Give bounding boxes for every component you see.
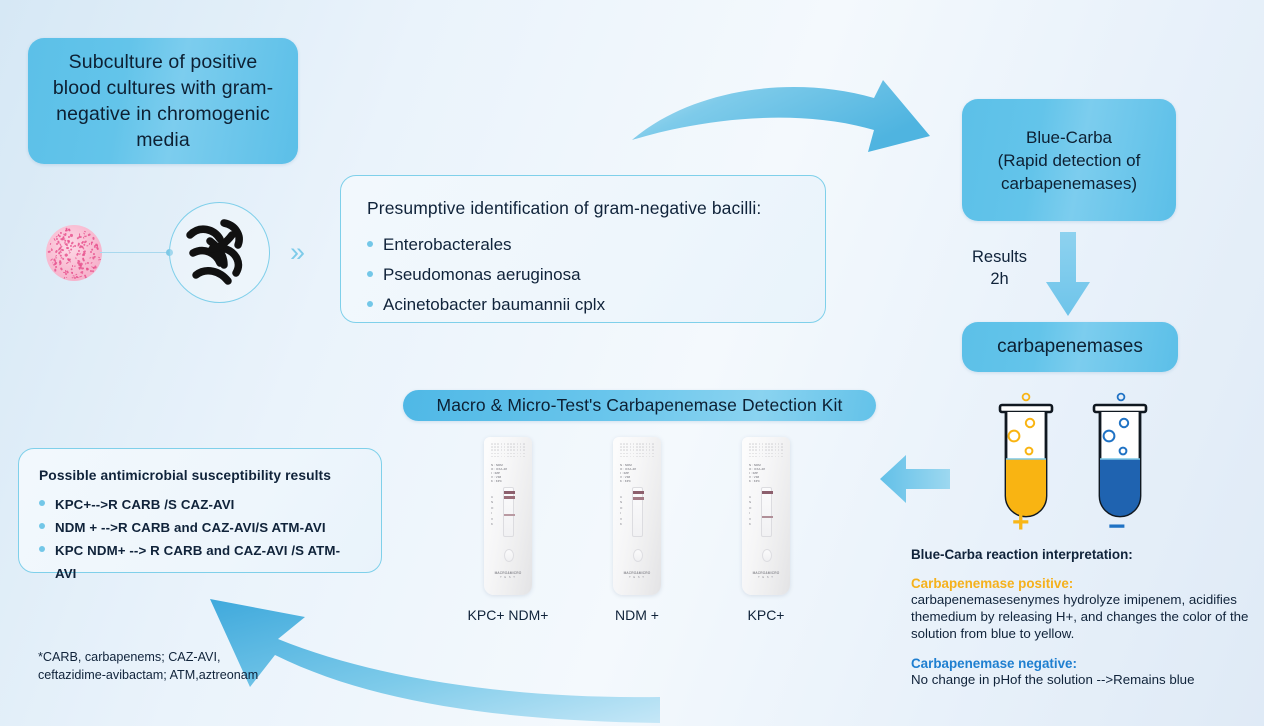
band-control [504,491,515,494]
kit-banner-label: Macro & Micro-Test's Carbapenemase Detec… [437,395,843,416]
interpretation-negative-block: Carbapenemase negative: No change in pHo… [911,656,1256,688]
strip-legend: N : NDM O : OXA-48 I : IMP V : VIM K : K… [491,463,507,483]
strip-perforation-icon [749,443,783,459]
strip-sample-well-icon [762,549,772,562]
bullet-dot-icon [367,271,373,277]
list-item-label: KPC NDM+ --> R CARB and CAZ-AVI /S ATM-A… [55,539,361,585]
negative-heading: Carbapenemase negative: [911,656,1256,671]
footnote-line2: ceftazidime-avibactam; ATM,aztreonam [38,666,338,684]
carbapenemases-label: carbapenemases [997,336,1143,358]
list-item-label: Enterobacterales [383,230,512,260]
list-item-label: NDM + -->R CARB and CAZ-AVI/S ATM-AVI [55,516,326,539]
carbapenemases-output-box: carbapenemases [962,322,1178,372]
strip-result-window [503,487,514,537]
band-kpc [504,514,515,516]
band-control [762,491,773,494]
positive-body: carbapenemasesenymes hydrolyze imipenem,… [911,591,1256,642]
presumptive-title: Presumptive identification of gram-negat… [367,198,799,219]
presumptive-identification-box: Presumptive identification of gram-negat… [340,175,826,323]
results-duration: 2h [972,268,1027,290]
footnote: *CARB, carbapenems; CAZ-AVI, ceftazidime… [38,648,338,684]
legend-kpc: K : KPC [491,479,507,483]
susceptibility-title: Possible antimicrobial susceptibility re… [39,468,361,483]
strip-sample-well-icon [633,549,643,562]
results-word: Results [972,246,1027,268]
footnote-line1: *CARB, carbapenems; CAZ-AVI, [38,648,338,666]
bullet-dot-icon [367,241,373,247]
band-ndm [504,496,515,499]
list-item-label: Acinetobacter baumannii cplx [383,290,605,320]
strip-perforation-icon [491,443,525,459]
strip-brand: MACRO&MICRO T E S T [752,571,780,579]
band-kpc [762,516,773,518]
strip-body: N : NDM O : OXA-48 I : IMP V : VIM K : K… [484,437,532,595]
list-item-label: KPC+-->R CARB /S CAZ-AVI [55,493,234,516]
susceptibility-list: KPC+-->R CARB /S CAZ-AVI NDM + -->R CARB… [39,493,361,585]
strip-brand: MACRO&MICRO T E S T [623,571,651,579]
interpretation-title: Blue-Carba reaction interpretation: [911,547,1256,562]
positive-sign-label: + [1012,508,1030,538]
arrow-left-tubes-to-kit-icon [880,455,950,503]
chevron-right-icon: ›› [290,237,302,268]
list-item: KPC NDM+ --> R CARB and CAZ-AVI /S ATM-A… [39,539,361,585]
test-tubes-illustration [968,388,1158,533]
susceptibility-results-box: Possible antimicrobial susceptibility re… [18,448,382,573]
carbapenemase-negative-tube [1094,394,1146,516]
list-item: Pseudomonas aeruginosa [367,260,799,290]
bullet-dot-icon [367,301,373,307]
results-time-label: Results 2h [972,246,1027,290]
subculture-text: Subculture of positive blood cultures wi… [42,49,284,153]
kit-banner: Macro & Micro-Test's Carbapenemase Detec… [403,390,876,421]
strip-result-window [761,487,772,537]
strip-side-labels: C N O I V K [749,495,751,527]
gram-stain-circle-icon [46,225,102,281]
strip-legend: N : NDM O : OXA-48 I : IMP V : VIM K : K… [749,463,765,483]
strip-side-labels: C N O I V K [491,495,493,527]
strip-side-labels: C N O I V K [620,495,622,527]
negative-body: No change in pHof the solution -->Remain… [911,671,1256,688]
positive-heading: Carbapenemase positive: [911,576,1256,591]
list-item: NDM + -->R CARB and CAZ-AVI/S ATM-AVI [39,516,361,539]
carbapenemase-positive-tube [1000,394,1052,516]
band-control [633,491,644,494]
arrow-subculture-to-bluecarba-icon [630,78,982,188]
strip-body: N : NDM O : OXA-48 I : IMP V : VIM K : K… [613,437,661,595]
interpretation-block: Blue-Carba reaction interpretation: Carb… [911,547,1256,688]
test-strip-kpc: N : NDM O : OXA-48 I : IMP V : VIM K : K… [742,437,790,623]
strip-brand: MACRO&MICRO T E S T [494,571,522,579]
strip-caption: KPC+ [726,607,806,623]
bacilli-rods-icon [180,213,260,293]
blue-carba-box: Blue-Carba (Rapid detection of carbapene… [962,99,1176,221]
magnifier-connector-line [100,252,170,253]
blue-carba-line3: carbapenemases) [1001,174,1137,193]
strip-result-window [632,487,643,537]
strip-legend: N : NDM O : OXA-48 I : IMP V : VIM K : K… [620,463,636,483]
list-item: KPC+-->R CARB /S CAZ-AVI [39,493,361,516]
strip-sample-well-icon [504,549,514,562]
list-item-label: Pseudomonas aeruginosa [383,260,581,290]
list-item: Acinetobacter baumannii cplx [367,290,799,320]
bullet-dot-icon [39,523,45,529]
negative-sign-label: − [1108,512,1126,542]
blue-carba-line2: (Rapid detection of [998,151,1141,170]
interpretation-positive-block: Carbapenemase positive: carbapenemasesen… [911,576,1256,642]
arrow-down-results-icon [1046,232,1090,316]
list-item: Enterobacterales [367,230,799,260]
diagram-canvas: Subculture of positive blood cultures wi… [0,0,1264,726]
strip-perforation-icon [620,443,654,459]
blue-carba-line1: Blue-Carba [1026,128,1112,147]
bullet-dot-icon [39,500,45,506]
presumptive-list: Enterobacterales Pseudomonas aeruginosa … [367,230,799,320]
bullet-dot-icon [39,546,45,552]
subculture-box: Subculture of positive blood cultures wi… [28,38,298,164]
band-ndm [633,497,644,500]
strip-body: N : NDM O : OXA-48 I : IMP V : VIM K : K… [742,437,790,595]
